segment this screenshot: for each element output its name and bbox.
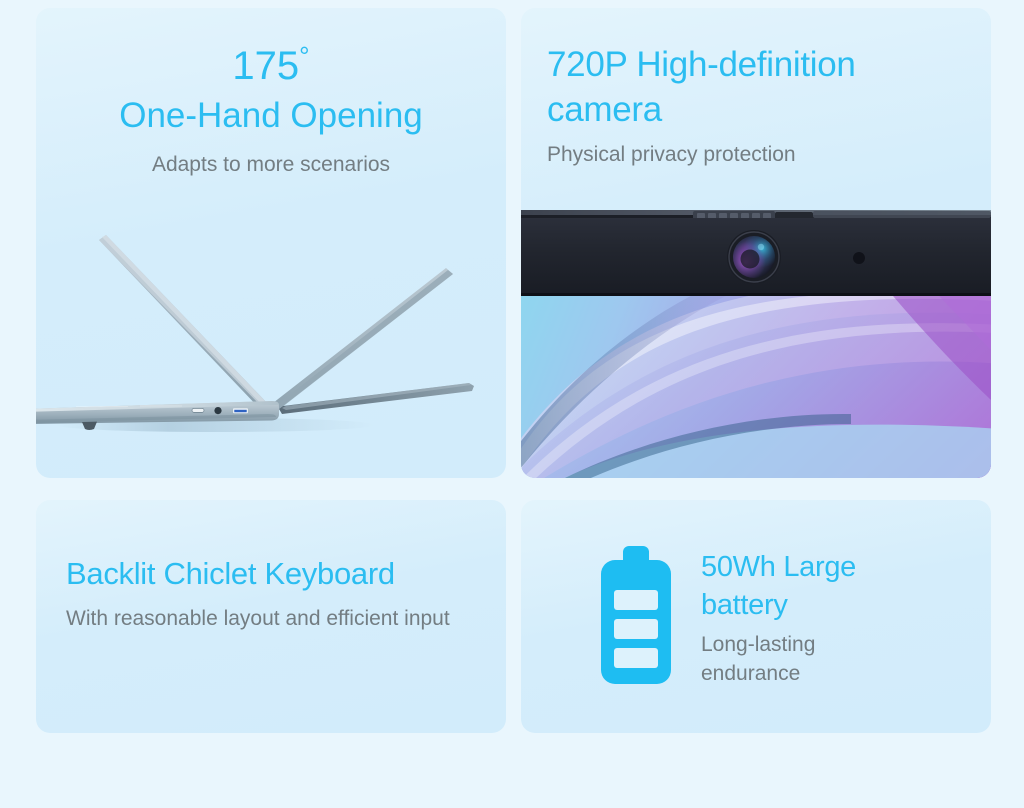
card-a-headline-line2: One-Hand Opening	[36, 92, 506, 140]
card-d-content: 50Wh Large battery Long-lasting enduranc…	[599, 546, 971, 691]
card-d-text-block: 50Wh Large battery Long-lasting enduranc…	[701, 546, 911, 688]
laptop-lid-flat-open	[279, 383, 474, 414]
feature-card-one-hand-opening: 175° One-Hand Opening Adapts to more sce…	[36, 8, 506, 478]
card-b-text-block: 720P High-definition camera Physical pri…	[547, 42, 973, 170]
usb-c-port	[192, 408, 204, 412]
laptop-175-degree-illustration	[36, 223, 506, 478]
card-c-text-block: Backlit Chiclet Keyboard With reasonable…	[66, 554, 486, 633]
screen-wallpaper	[521, 272, 991, 478]
camera-lens	[727, 230, 781, 284]
battery-icon	[599, 546, 673, 691]
card-a-text-block: 175° One-Hand Opening Adapts to more sce…	[36, 42, 506, 180]
webcam-photo-svg	[521, 200, 991, 478]
audio-jack-port	[214, 407, 221, 414]
laptop-lid-raised-right	[273, 268, 453, 409]
card-c-subtitle: With reasonable layout and efficient inp…	[66, 604, 486, 633]
feature-card-backlit-keyboard: Backlit Chiclet Keyboard With reasonable…	[36, 500, 506, 733]
card-b-subtitle: Physical privacy protection	[547, 140, 973, 170]
battery-segment	[614, 648, 658, 668]
laptop-lid-raised-left	[99, 235, 267, 409]
webcam-bezel-photo	[521, 200, 991, 478]
product-feature-grid: 175° One-Hand Opening Adapts to more sce…	[0, 0, 1024, 808]
battery-segment	[614, 619, 658, 639]
card-d-title: 50Wh Large battery	[701, 548, 901, 624]
degree-symbol: °	[299, 41, 309, 71]
microphone-hole	[853, 252, 865, 264]
card-d-subtitle: Long-lasting endurance	[701, 630, 911, 688]
feature-card-hd-camera: 720P High-definition camera Physical pri…	[521, 8, 991, 478]
card-c-title: Backlit Chiclet Keyboard	[66, 554, 486, 594]
card-a-headline-value: 175	[232, 44, 299, 88]
card-b-title: 720P High-definition camera	[547, 42, 973, 132]
card-a-subtitle: Adapts to more scenarios	[36, 150, 506, 180]
card-a-headline: 175°	[36, 42, 506, 90]
feature-card-large-battery: 50Wh Large battery Long-lasting enduranc…	[521, 500, 991, 733]
laptop-side-profile-svg	[36, 223, 506, 478]
battery-icon-svg	[599, 546, 673, 686]
battery-segment	[614, 590, 658, 610]
